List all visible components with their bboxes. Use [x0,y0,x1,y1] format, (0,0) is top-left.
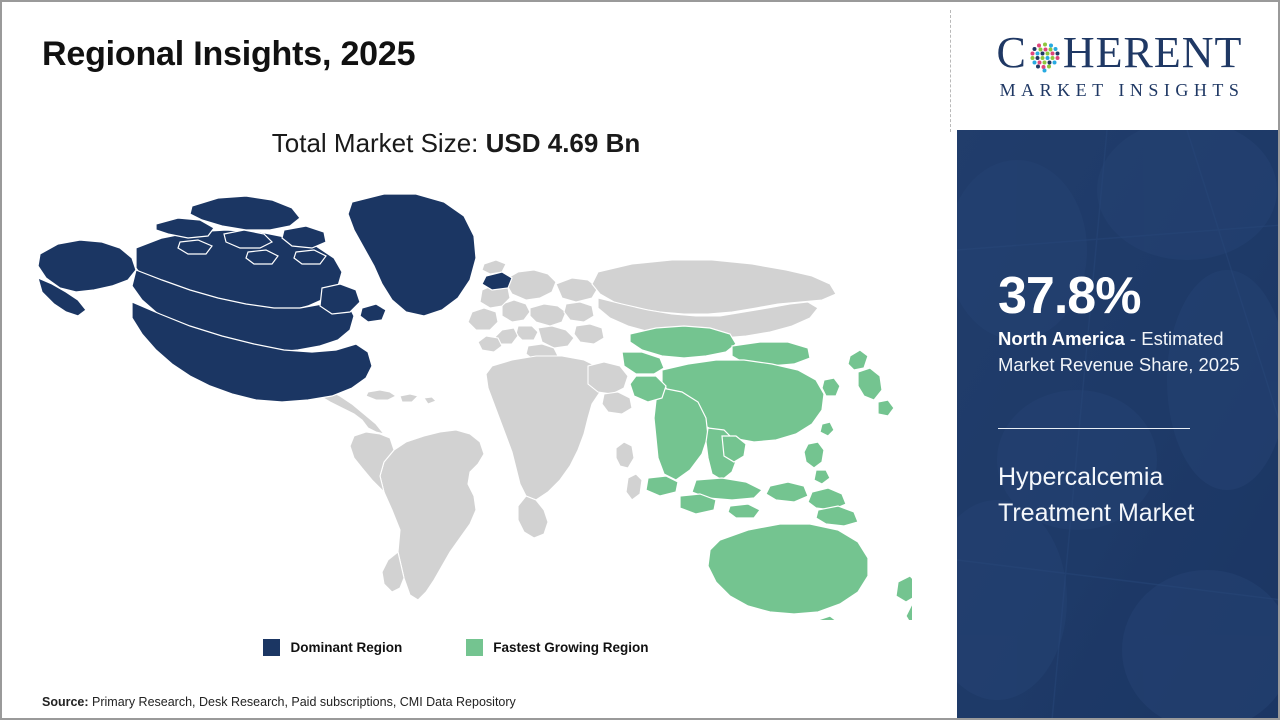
regional-insight-panel: 37.8% North America - Estimated Market R… [957,130,1280,720]
page-title: Regional Insights, 2025 [42,35,415,74]
logo-subtitle: MARKET INSIGHTS [995,80,1245,101]
logo-letter-c: C [997,31,1027,75]
legend-label-fastest-growing: Fastest Growing Region [493,640,648,655]
market-size-label: Total Market Size: [272,128,486,158]
total-market-size: Total Market Size: USD 4.69 Bn [2,128,910,159]
logo-wordmark: C [997,31,1243,75]
legend-swatch-fastest-growing [466,639,483,656]
dotted-globe-icon [1028,38,1062,72]
share-region-name: North America [998,328,1125,349]
legend-item-dominant: Dominant Region [263,639,402,656]
brand-logo: C [957,2,1280,130]
logo-letters-herent: HERENT [1063,31,1243,75]
market-size-value: USD 4.69 Bn [486,128,641,158]
share-percentage: 37.8% [998,270,1140,322]
panel-divider [998,428,1190,429]
panel-content: 37.8% North America - Estimated Market R… [998,130,1268,720]
world-map [32,180,912,620]
source-label: Source: [42,695,89,709]
legend-label-dominant: Dominant Region [290,640,402,655]
share-description: North America - Estimated Market Revenue… [998,326,1266,379]
slide-canvas: Regional Insights, 2025 Total Market Siz… [0,0,1280,720]
market-name: Hypercalcemia Treatment Market [998,460,1248,531]
legend-swatch-dominant [263,639,280,656]
legend-item-fastest-growing: Fastest Growing Region [466,639,648,656]
map-legend: Dominant Region Fastest Growing Region [2,639,910,656]
left-content-panel: Regional Insights, 2025 Total Market Siz… [2,2,950,718]
vertical-dashed-divider [950,10,951,132]
map-region-asia-pacific [622,326,912,620]
source-text: Primary Research, Desk Research, Paid su… [89,695,516,709]
source-note: Source: Primary Research, Desk Research,… [42,695,516,709]
map-region-north-america [38,194,512,402]
